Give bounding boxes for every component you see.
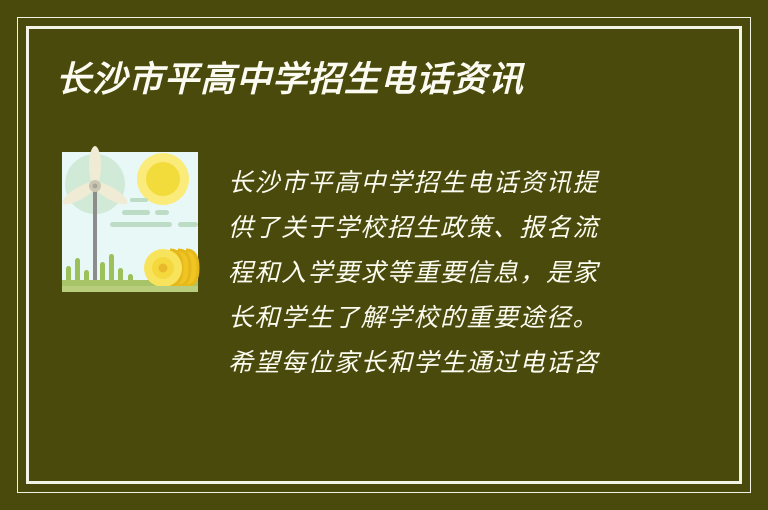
turbine-hub-inner (93, 184, 98, 189)
hay-bale (144, 249, 198, 287)
article-line: 程和入学要求等重要信息，是家 (228, 250, 646, 295)
cloud-line (130, 198, 148, 202)
page-title: 长沙市平高中学招生电话资讯 (56, 60, 524, 100)
wind-turbine-farm-illustration (58, 146, 200, 301)
article-line: 长和学生了解学校的重要途径。 (228, 295, 646, 340)
cloud-line (155, 210, 169, 215)
sun-core (146, 162, 180, 196)
cloud-line (178, 222, 198, 227)
article-body: 长沙市平高中学招生电话资讯提 供了关于学校招生政策、报名流 程和入学要求等重要信… (228, 160, 646, 385)
turbine-mast (93, 186, 97, 292)
poster-card: 长沙市平高中学招生电话资讯 (0, 0, 768, 510)
cloud-line (110, 222, 172, 227)
article-line: 供了关于学校招生政策、报名流 (228, 205, 646, 250)
cloud-line (122, 210, 150, 215)
ground-front (62, 286, 198, 292)
article-line: 希望每位家长和学生通过电话咨 (228, 340, 646, 385)
article-line: 长沙市平高中学招生电话资讯提 (228, 160, 646, 205)
